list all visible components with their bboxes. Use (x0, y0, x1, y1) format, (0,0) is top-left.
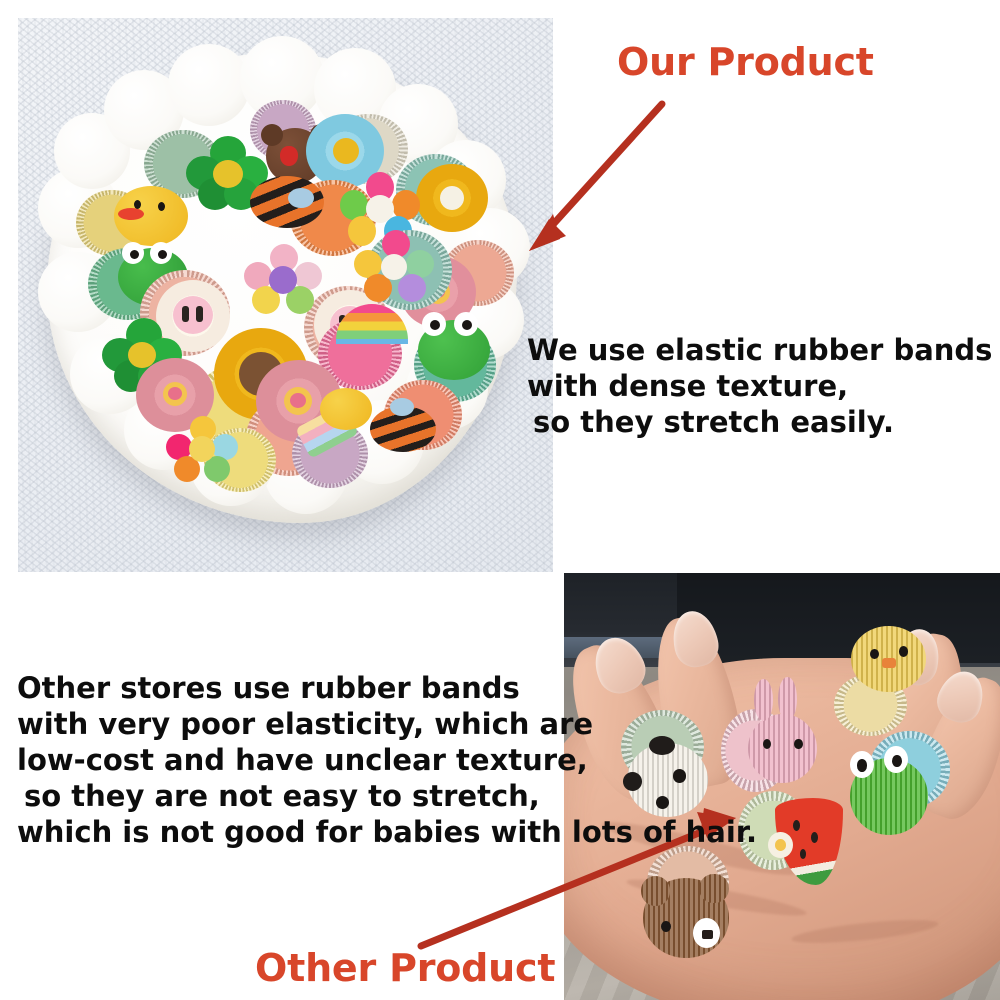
bear-strawberry (280, 146, 298, 166)
duck-beak (118, 208, 144, 220)
our-product-photo (18, 18, 553, 572)
bear-ear (699, 874, 728, 904)
hair-tie-pile (18, 18, 553, 572)
purple-daisy-charm (244, 244, 322, 318)
other-product-label: Other Product (255, 946, 555, 990)
description-line: so they stretch easily. (527, 404, 992, 440)
our-product-description: We use elastic rubber bands with dense t… (527, 332, 992, 440)
multicolor-flower-2 (354, 230, 434, 306)
description-line: with dense texture, (527, 368, 992, 404)
yellow-sunflower-charm (416, 164, 488, 232)
bee-wing-2 (390, 398, 414, 416)
bear-hair-tie (634, 846, 747, 970)
bunny-ear (778, 677, 797, 721)
infographic-canvas: Our Product We use elastic rubber bands … (0, 0, 1000, 1000)
our-product-label: Our Product (617, 40, 874, 84)
chick-hair-tie (830, 620, 935, 740)
small-multicolor-flower (166, 416, 238, 484)
chick-beak (882, 658, 896, 668)
bear-ear (641, 876, 670, 906)
bunny-ear (754, 679, 773, 721)
other-product-description: Other stores use rubber bands with very … (17, 670, 757, 850)
description-line: with very poor elasticity, which are (17, 706, 757, 742)
description-line: We use elastic rubber bands (527, 332, 992, 368)
bunny-head (748, 714, 817, 783)
description-line: which is not good for babies with lots o… (17, 814, 757, 850)
frog-hair-tie (843, 731, 952, 855)
bee-wing (288, 188, 314, 208)
description-line: so they are not easy to stretch, (17, 778, 757, 814)
duck-charm-2 (320, 388, 372, 430)
description-line: Other stores use rubber bands (17, 670, 757, 706)
description-line: low-cost and have unclear texture, (17, 742, 757, 778)
